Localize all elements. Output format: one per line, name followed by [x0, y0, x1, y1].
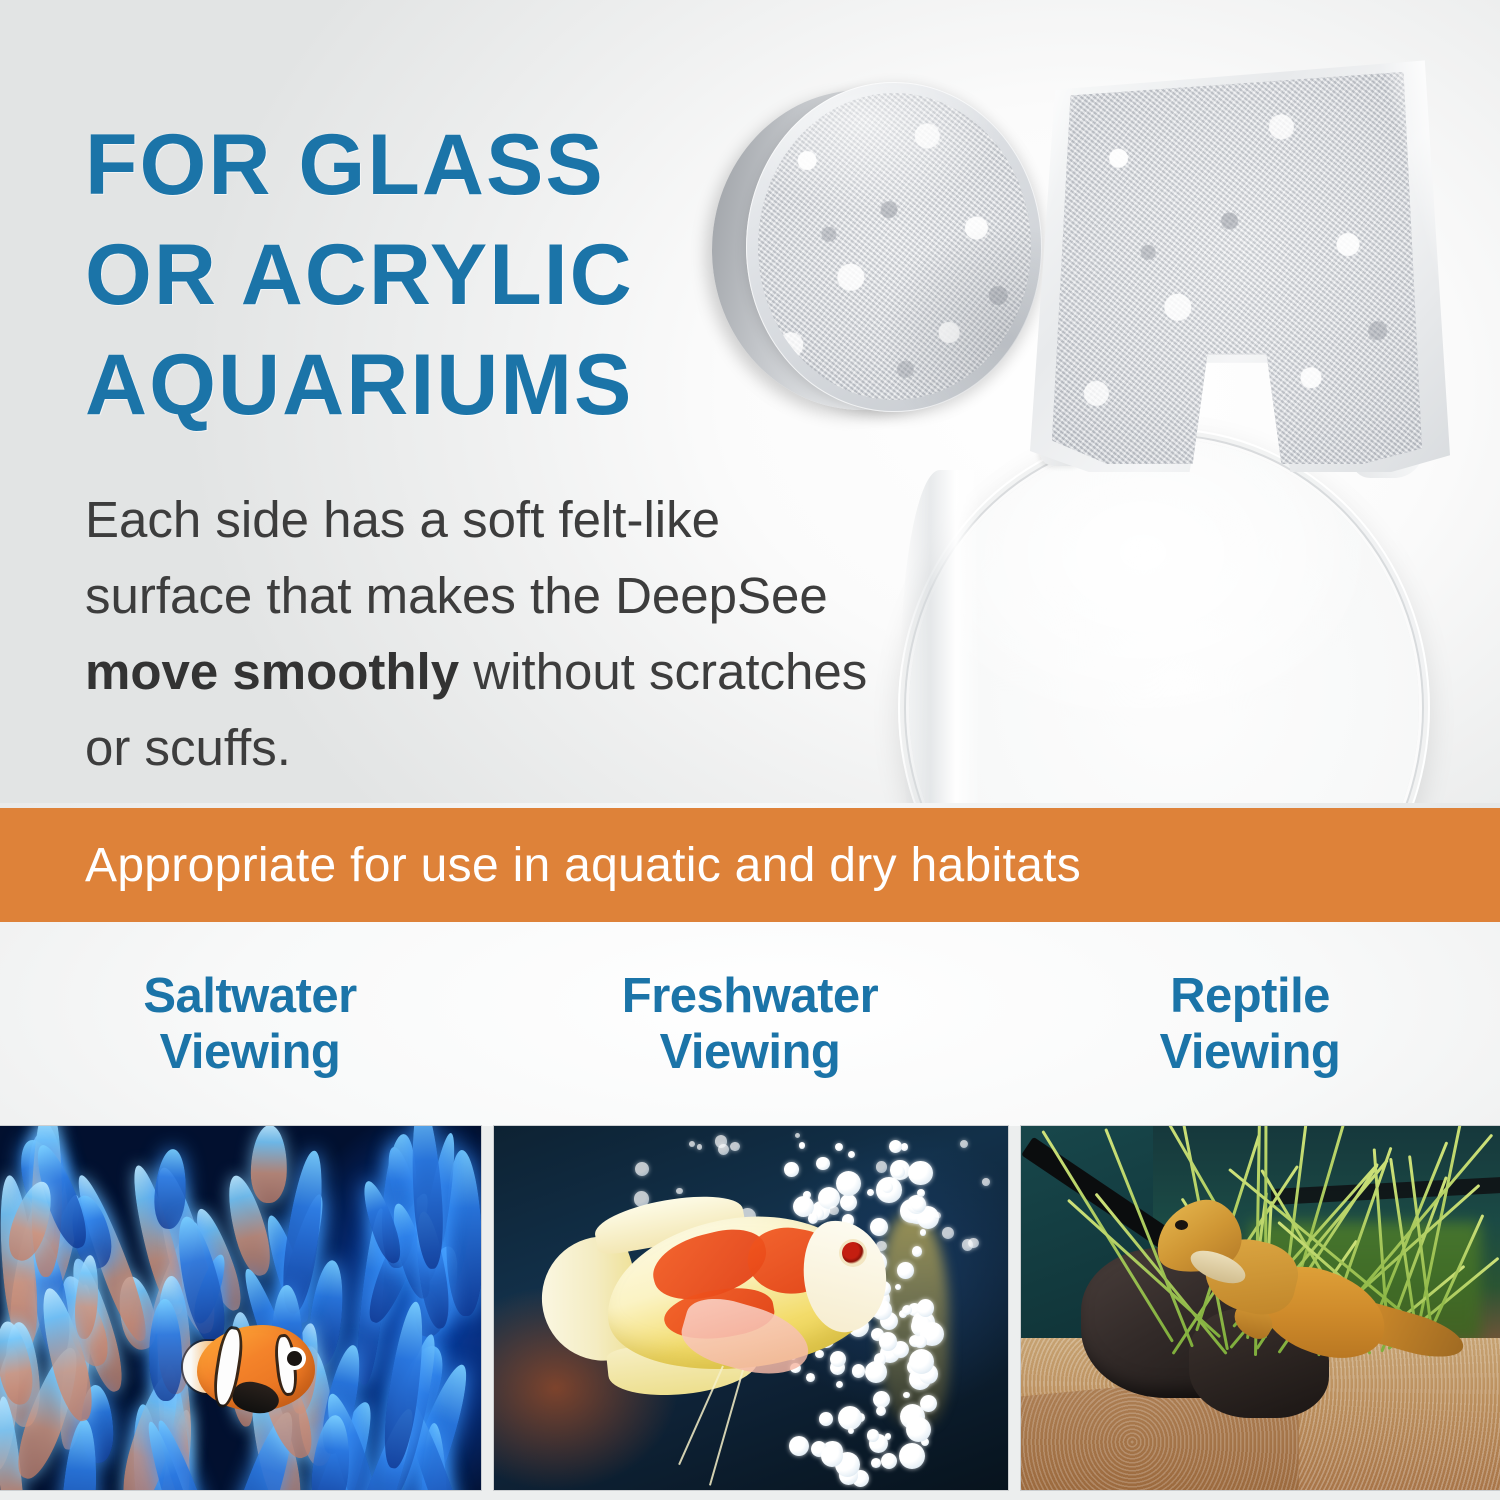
- dragon-eye: [1175, 1220, 1188, 1230]
- habitat-banner-text: Appropriate for use in aquatic and dry h…: [0, 838, 1081, 893]
- category-heading-row: Saltwater Viewing Freshwater Viewing Rep…: [0, 922, 1500, 1126]
- headline-line-1: FOR GLASS: [85, 110, 634, 220]
- trapezoid-felt-texture: [1052, 72, 1422, 464]
- category-title-reptile: Reptile: [1170, 968, 1330, 1024]
- category-subtitle-freshwater: Viewing: [660, 1024, 841, 1080]
- clownfish: [175, 1311, 315, 1423]
- oscar-cichlid: [542, 1194, 894, 1424]
- photo-strip: [0, 1126, 1500, 1500]
- photo-saltwater-clownfish: [0, 1126, 481, 1490]
- felt-pad-face: [746, 82, 1042, 412]
- headline-line-3: AQUARIUMS: [85, 330, 634, 440]
- round-felt-pad: [712, 82, 1032, 420]
- headline-line-2: OR ACRYLIC: [85, 220, 634, 330]
- category-heading-saltwater: Saltwater Viewing: [0, 922, 500, 1126]
- hero-section: FOR GLASS OR ACRYLIC AQUARIUMS Each side…: [0, 0, 1500, 808]
- description-emphasis: move smoothly: [85, 643, 459, 700]
- description-paragraph: Each side has a soft felt-like surface t…: [85, 482, 875, 786]
- headline: FOR GLASS OR ACRYLIC AQUARIUMS: [85, 110, 634, 440]
- category-title-saltwater: Saltwater: [143, 968, 356, 1024]
- category-heading-freshwater: Freshwater Viewing: [500, 922, 1000, 1126]
- felt-texture: [758, 93, 1031, 400]
- category-title-freshwater: Freshwater: [622, 968, 878, 1024]
- description-part-1: Each side has a soft felt-like surface t…: [85, 491, 828, 624]
- photo-freshwater-oscar-cichlid: [494, 1126, 1008, 1490]
- category-subtitle-reptile: Viewing: [1160, 1024, 1341, 1080]
- bearded-dragon: [1133, 1202, 1463, 1418]
- clownfish-eye: [287, 1351, 302, 1366]
- lens-rim-highlight: [906, 436, 1422, 808]
- category-heading-reptile: Reptile Viewing: [1000, 922, 1500, 1126]
- oscar-eye: [842, 1242, 864, 1264]
- category-subtitle-saltwater: Viewing: [160, 1024, 341, 1080]
- photo-reptile-bearded-dragon: [1021, 1126, 1500, 1490]
- trapezoid-felt-pad: [1030, 52, 1450, 472]
- habitat-banner: Appropriate for use in aquatic and dry h…: [0, 808, 1500, 922]
